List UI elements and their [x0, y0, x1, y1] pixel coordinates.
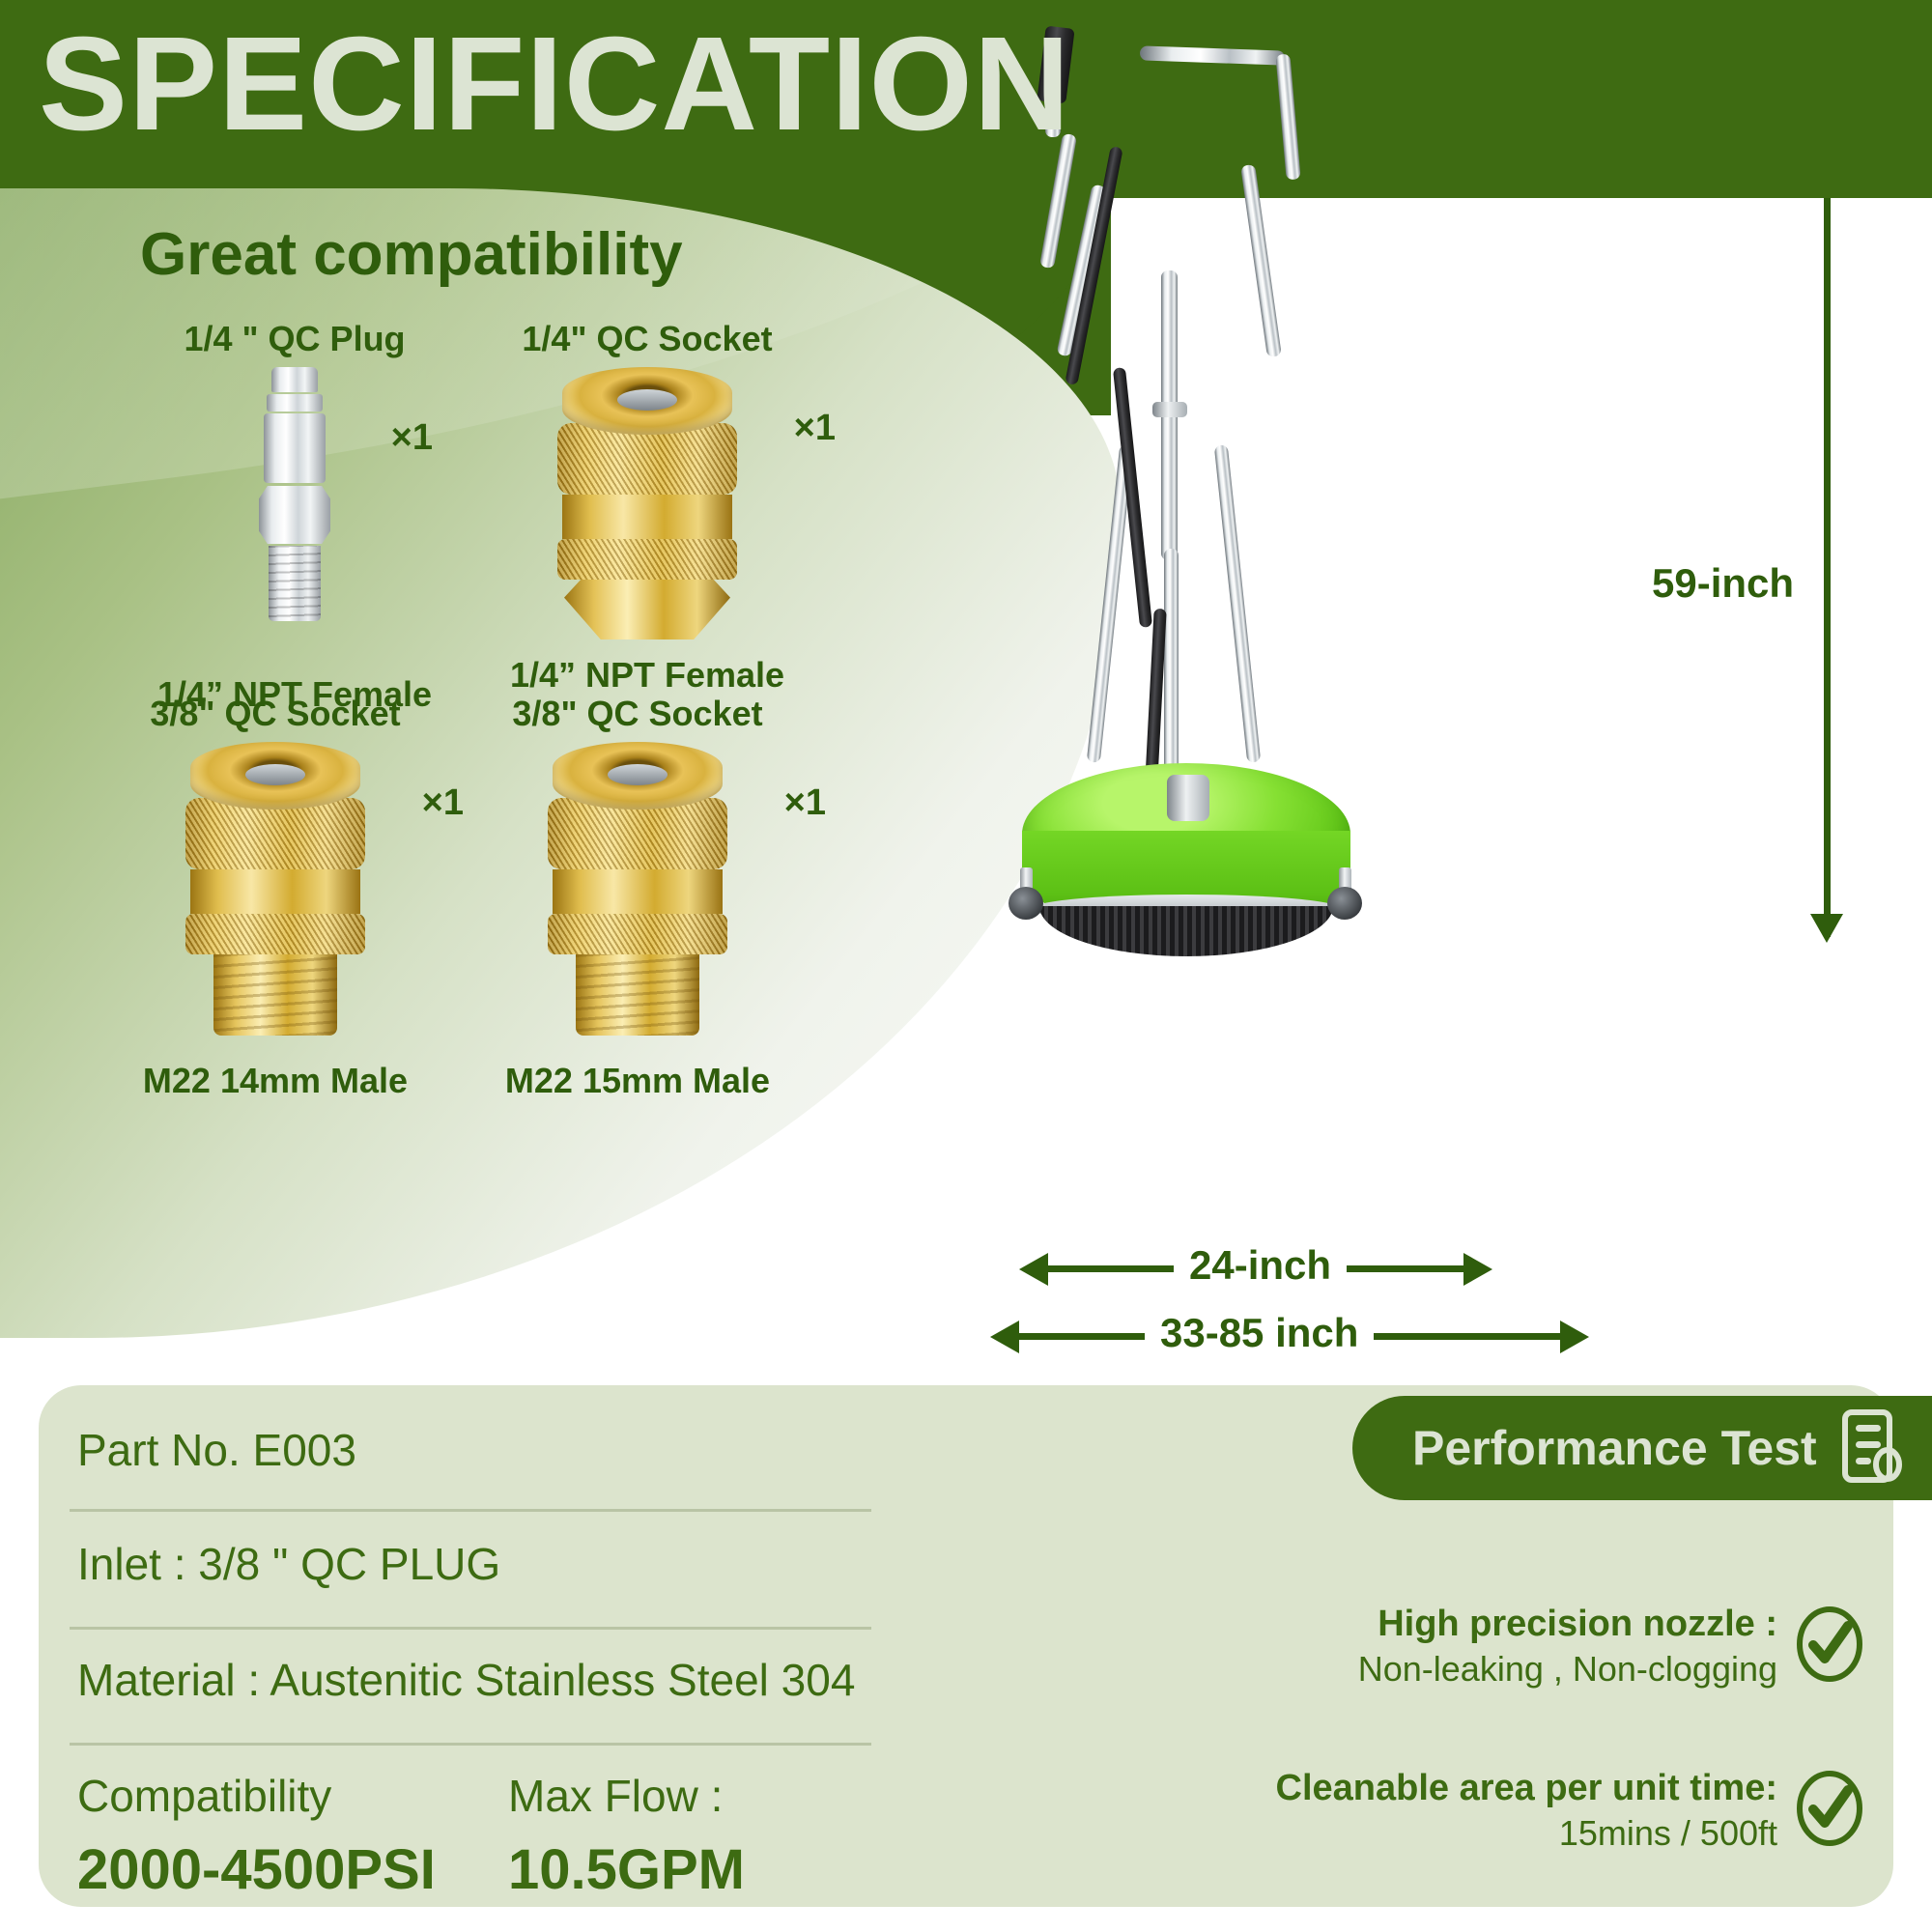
total-width-arrow-left — [990, 1321, 1019, 1353]
connector-subtitle: M22 15mm Male — [430, 1061, 845, 1101]
connector-title: 3/8" QC Socket — [430, 694, 845, 734]
connector-qty: ×1 — [784, 782, 826, 824]
connector-subtitle: M22 14mm Male — [68, 1061, 483, 1101]
performance-item-label: High precision nozzle : — [1358, 1604, 1777, 1645]
handle-tube-right — [1275, 54, 1300, 181]
total-width-label: 33-85 inch — [1145, 1310, 1374, 1356]
total-width-arrow-right — [1560, 1321, 1589, 1353]
max-flow-value: 10.5GPM — [508, 1837, 745, 1902]
part-number: Part No. E003 — [77, 1424, 356, 1476]
connector-subtitle: 1/4” NPT Female — [440, 655, 855, 696]
connector-card: 1/4" QC Socket ×1 1/4” NPT Female — [440, 319, 855, 696]
performance-item: High precision nozzle : Non-leaking , No… — [1352, 1604, 1864, 1690]
connector-card: 3/8" QC Socket ×1 M22 14mm Male — [68, 694, 483, 1101]
inlet-spec: Inlet : 3/8 " QC PLUG — [77, 1538, 500, 1590]
product-illustration — [995, 19, 1536, 1014]
performance-item-texts: Cleanable area per unit time: 15mins / 5… — [1276, 1768, 1778, 1854]
caster-wheel-left — [1005, 867, 1049, 918]
connector-title: 3/8" QC Socket — [68, 694, 483, 734]
brass-socket-icon — [546, 742, 729, 1036]
head-width-arrow-right — [1463, 1253, 1492, 1286]
brass-socket-icon — [184, 742, 367, 1036]
clipboard-icon — [1842, 1409, 1902, 1488]
handle-tube-right2 — [1240, 164, 1282, 357]
swivel-hub — [1167, 775, 1209, 821]
leg-tube-right — [1214, 444, 1261, 763]
head-width-label: 24-inch — [1174, 1242, 1347, 1289]
column-clamp — [1152, 402, 1187, 417]
hose — [1065, 146, 1122, 385]
performance-test-title: Performance Test — [1412, 1420, 1817, 1476]
connector-image-brass-socket: ×1 — [440, 367, 855, 609]
height-dimension-label: 59-inch — [1642, 556, 1804, 611]
performance-item-value: 15mins / 500ft — [1276, 1813, 1778, 1854]
brass-socket-icon — [555, 367, 739, 639]
connector-title: 1/4" QC Socket — [440, 319, 855, 359]
connector-image-brass-socket: ×1 — [68, 742, 483, 1010]
compatibility-value: 2000-4500PSI — [77, 1837, 436, 1902]
cleaner-head-brush-skirt — [1039, 906, 1333, 956]
page-title: SPECIFICATION — [39, 17, 1070, 151]
spec-divider — [70, 1509, 871, 1512]
performance-test-banner: Performance Test — [1352, 1396, 1932, 1500]
check-circle-icon — [1795, 1769, 1864, 1853]
connector-image-brass-socket: ×1 — [430, 742, 845, 1010]
performance-item-value: Non-leaking , Non-clogging — [1358, 1649, 1777, 1690]
performance-item-label: Cleanable area per unit time: — [1276, 1768, 1778, 1809]
spec-divider — [70, 1743, 871, 1746]
height-arrow-down — [1810, 914, 1843, 943]
center-column-lower — [1164, 549, 1179, 771]
head-width-arrow-left — [1019, 1253, 1048, 1286]
compatibility-heading: Great compatibility — [140, 220, 683, 289]
steel-plug-icon — [257, 367, 332, 621]
compatibility-label: Compatibility — [77, 1770, 331, 1822]
performance-item: Cleanable area per unit time: 15mins / 5… — [1352, 1768, 1864, 1854]
check-circle-icon — [1795, 1605, 1864, 1689]
spec-divider — [70, 1627, 871, 1630]
material-spec: Material : Austenitic Stainless Steel 30… — [77, 1654, 855, 1706]
connector-qty: ×1 — [391, 417, 433, 459]
connector-card: 3/8" QC Socket ×1 M22 15mm Male — [430, 694, 845, 1101]
handle-bar-top — [1140, 45, 1285, 65]
max-flow-label: Max Flow : — [508, 1770, 723, 1822]
caster-wheel-right — [1323, 867, 1368, 918]
connector-qty: ×1 — [794, 408, 836, 449]
performance-item-texts: High precision nozzle : Non-leaking , No… — [1358, 1604, 1777, 1690]
